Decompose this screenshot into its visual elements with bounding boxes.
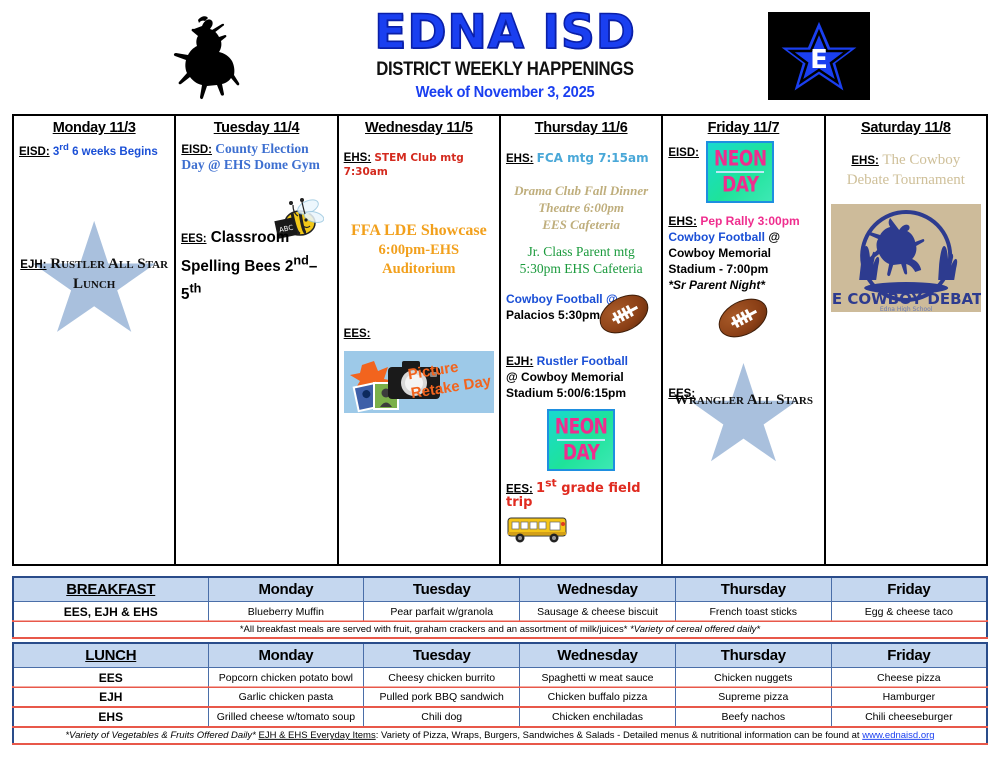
column-header-friday: Friday bbox=[831, 577, 987, 602]
event-label: EHS: bbox=[668, 214, 697, 228]
breakfast-title: BREAKFAST bbox=[13, 577, 208, 602]
cell-friday: Egg & cheese taco bbox=[831, 602, 987, 621]
page-header: EDNA ISD DISTRICT WEEKLY HAPPENINGS Week… bbox=[0, 0, 1000, 112]
saturday-debate-text-block: EHS: The Cowboy Debate Tournament bbox=[831, 151, 981, 190]
picture-retake-day-graphic: Picture Retake Day bbox=[344, 351, 494, 413]
event-label: EISD: bbox=[668, 147, 699, 159]
cell-tuesday: Pear parfait w/granola bbox=[364, 602, 520, 621]
svg-text:E: E bbox=[810, 45, 828, 75]
football-icon bbox=[598, 297, 650, 331]
thursday-ejh-football-block: EJH: Rustler Football @ Cowboy Memorial … bbox=[506, 353, 656, 401]
friday-star-block: EES: Wrangler All Stars bbox=[668, 363, 818, 473]
ejh-line-3: Stadium 5:00/6:15pm bbox=[506, 386, 626, 400]
thursday-cowboy-football-block: Cowboy Football @ Palacios 5:30pm bbox=[506, 291, 656, 323]
friday-fb-line-4: *Sr Parent Night* bbox=[668, 278, 765, 292]
event-label: EISD: bbox=[19, 146, 50, 158]
event-label: EHS: bbox=[851, 155, 878, 167]
friday-fb-line-3: Stadium - 7:00pm bbox=[668, 262, 768, 276]
day-column-friday: Friday 11/7 EISD: NEON DAY EHS: Pep Rall… bbox=[663, 116, 825, 564]
monday-star-block: EJH: Rustler All Star Lunch bbox=[19, 221, 169, 341]
ffa-line-2: 6:00pm-EHS Auditorium bbox=[344, 241, 494, 279]
event-text: Rustler All Star Lunch bbox=[50, 256, 168, 292]
ffa-line-1: FFA LDE Showcase bbox=[344, 221, 494, 241]
monday-star-text: EJH: Rustler All Star Lunch bbox=[19, 221, 169, 294]
school-bus-icon bbox=[506, 514, 570, 544]
friday-fb-line-2: Cowboy Memorial bbox=[668, 246, 771, 260]
cell-monday: Grilled cheese w/tomato soup bbox=[208, 707, 364, 726]
cell-tuesday: Chili dog bbox=[364, 707, 520, 726]
day-header-tuesday: Tuesday 11/4 bbox=[181, 120, 331, 136]
neon-line-2: DAY bbox=[722, 174, 758, 197]
day-header-thursday: Thursday 11/6 bbox=[506, 120, 656, 136]
note-plain: *All breakfast meals are served with fru… bbox=[240, 624, 630, 635]
row-label: EHS bbox=[13, 707, 208, 726]
day-column-monday: Monday 11/3 EISD: 3rd 6 weeks Begins EJH… bbox=[14, 116, 176, 564]
lunch-note-row: *Variety of Vegetables & Fruits Offered … bbox=[13, 727, 987, 744]
day-header-saturday: Saturday 11/8 bbox=[831, 120, 981, 136]
event-label: EES: bbox=[181, 233, 207, 245]
neon-line-2: DAY bbox=[563, 442, 599, 465]
note-italic: *Variety of Vegetables & Fruits Offered … bbox=[65, 730, 255, 741]
cell-wednesday: Chicken buffalo pizza bbox=[520, 687, 676, 706]
row-label: EES bbox=[13, 668, 208, 687]
breakfast-menu-table: BREAKFAST Monday Tuesday Wednesday Thurs… bbox=[12, 576, 988, 639]
cell-thursday: Beefy nachos bbox=[675, 707, 831, 726]
row-label: EES, EJH & EHS bbox=[13, 602, 208, 621]
note-underline: EJH & EHS Everyday Items bbox=[259, 730, 376, 741]
lunch-title: LUNCH bbox=[13, 643, 208, 668]
event-wednesday-ehs: EHS: STEM Club mtg 7:30am bbox=[344, 151, 494, 179]
event-tuesday-eisd: EISD: County Election Day @ EHS Dome Gym bbox=[181, 141, 331, 173]
cell-monday: Blueberry Muffin bbox=[208, 602, 364, 621]
day-header-monday: Monday 11/3 bbox=[19, 120, 169, 136]
week-label: Week of November 3, 2025 bbox=[298, 82, 712, 104]
jr-line-1: Jr. Class Parent mtg bbox=[506, 243, 656, 260]
breakfast-note: *All breakfast meals are served with fru… bbox=[13, 621, 987, 637]
neon-line-1: NEON bbox=[714, 148, 767, 171]
column-header-tuesday: Tuesday bbox=[364, 643, 520, 668]
cell-wednesday: Spaghetti w meat sauce bbox=[520, 668, 676, 687]
column-header-monday: Monday bbox=[208, 577, 364, 602]
cell-friday: Cheese pizza bbox=[831, 668, 987, 687]
day-column-tuesday: Tuesday 11/4 EISD: County Election Day @… bbox=[176, 116, 338, 564]
event-text-line2: Spelling Bees 2nd–5th bbox=[181, 258, 317, 302]
page-subtitle: DISTRICT WEEKLY HAPPENINGS bbox=[307, 58, 703, 82]
cell-tuesday: Cheesy chicken burrito bbox=[364, 668, 520, 687]
football-line-2: Palacios 5:30pm bbox=[506, 308, 600, 322]
jr-line-2: 5:30pm EHS Cafeteria bbox=[506, 260, 656, 277]
lunch-menu-table: LUNCH Monday Tuesday Wednesday Thursday … bbox=[12, 642, 988, 745]
note-italic: *Variety of cereal offered daily* bbox=[630, 624, 760, 635]
wednesday-ffa-block: FFA LDE Showcase 6:00pm-EHS Auditorium bbox=[344, 221, 494, 279]
cell-thursday: French toast sticks bbox=[675, 602, 831, 621]
event-label: EES: bbox=[506, 483, 533, 495]
cell-monday: Popcorn chicken potato bowl bbox=[208, 668, 364, 687]
row-label: EJH bbox=[13, 687, 208, 706]
event-label: EJH: bbox=[506, 354, 533, 368]
pep-rally-text: Pep Rally 3:00pm bbox=[700, 214, 799, 228]
cell-friday: Chili cheeseburger bbox=[831, 707, 987, 726]
cell-monday: Garlic chicken pasta bbox=[208, 687, 364, 706]
event-monday-eisd: EISD: 3rd 6 weeks Begins bbox=[19, 141, 169, 159]
title-block: EDNA ISD DISTRICT WEEKLY HAPPENINGS Week… bbox=[280, 8, 730, 104]
event-label: EJH: bbox=[20, 259, 46, 271]
day-column-saturday: Saturday 11/8 EHS: The Cowboy Debate Tou… bbox=[826, 116, 986, 564]
cell-thursday: Supreme pizza bbox=[675, 687, 831, 706]
friday-fb-line-1: Cowboy Football bbox=[668, 230, 765, 244]
friday-star-text: EES: Wrangler All Stars bbox=[668, 363, 818, 410]
neon-line-1: NEON bbox=[555, 416, 608, 439]
ednaisd-website-link[interactable]: www.ednaisd.org bbox=[862, 730, 934, 741]
ehs-star-logo-icon: E bbox=[768, 12, 870, 100]
column-header-wednesday: Wednesday bbox=[520, 643, 676, 668]
event-label: EISD: bbox=[181, 144, 212, 156]
event-label: EES: bbox=[344, 328, 371, 340]
table-row: EES, EJH & EHS Blueberry Muffin Pear par… bbox=[13, 602, 987, 622]
event-label: EHS: bbox=[344, 152, 371, 164]
page-title: EDNA ISD bbox=[280, 8, 730, 58]
event-text: 3rd 6 weeks Begins bbox=[53, 146, 158, 158]
column-header-wednesday: Wednesday bbox=[520, 577, 676, 602]
thursday-drama-club-block: Drama Club Fall Dinner Theatre 6:00pm EE… bbox=[506, 182, 656, 233]
friday-fb-at: @ bbox=[768, 230, 780, 244]
tuesday-spelling-bee-text: EES: Classroom Spelling Bees 2nd–5th bbox=[181, 227, 324, 305]
debate-logo-sub: Edna High School bbox=[880, 306, 933, 312]
cell-friday: Hamburger bbox=[831, 687, 987, 706]
event-label: EHS: bbox=[506, 153, 533, 165]
tuesday-spelling-bee-block: ABC EES: Classroom Spelling Bees 2nd–5th bbox=[181, 227, 331, 305]
football-icon bbox=[668, 301, 818, 335]
drama-line-3: EES Cafeteria bbox=[506, 216, 656, 233]
lunch-note: *Variety of Vegetables & Fruits Offered … bbox=[13, 727, 987, 743]
event-wednesday-ees-label: EES: bbox=[344, 327, 494, 341]
day-header-friday: Friday 11/7 bbox=[668, 120, 818, 136]
cell-wednesday: Chicken enchiladas bbox=[520, 707, 676, 726]
weekly-calendar-grid: Monday 11/3 EISD: 3rd 6 weeks Begins EJH… bbox=[12, 114, 988, 566]
column-header-thursday: Thursday bbox=[675, 577, 831, 602]
ejh-line-1: Rustler Football bbox=[537, 354, 628, 368]
event-text-line1: Classroom bbox=[211, 229, 290, 246]
neon-day-badge-thursday: NEON DAY bbox=[547, 409, 615, 471]
drama-line-1: Drama Club Fall Dinner bbox=[506, 182, 656, 199]
event-text: FCA mtg 7:15am bbox=[537, 151, 649, 165]
friday-events-block: EHS: Pep Rally 3:00pm Cowboy Football @ … bbox=[668, 213, 818, 293]
cell-wednesday: Sausage & cheese biscuit bbox=[520, 602, 676, 621]
day-header-wednesday: Wednesday 11/5 bbox=[344, 120, 494, 136]
cell-thursday: Chicken nuggets bbox=[675, 668, 831, 687]
table-header-row: LUNCH Monday Tuesday Wednesday Thursday … bbox=[13, 643, 987, 668]
event-thursday-ehs: EHS: FCA mtg 7:15am bbox=[506, 151, 656, 166]
table-header-row: BREAKFAST Monday Tuesday Wednesday Thurs… bbox=[13, 577, 987, 602]
friday-neon-row: EISD: NEON DAY bbox=[668, 141, 818, 203]
day-column-thursday: Thursday 11/6 EHS: FCA mtg 7:15am Drama … bbox=[501, 116, 663, 564]
column-header-friday: Friday bbox=[831, 643, 987, 668]
note-plain: : Variety of Pizza, Wraps, Burgers, Sand… bbox=[376, 730, 863, 741]
column-header-tuesday: Tuesday bbox=[364, 577, 520, 602]
table-row: EES Popcorn chicken potato bowl Cheesy c… bbox=[13, 668, 987, 688]
breakfast-note-row: *All breakfast meals are served with fru… bbox=[13, 621, 987, 638]
thursday-jr-class-block: Jr. Class Parent mtg 5:30pm EHS Cafeteri… bbox=[506, 243, 656, 277]
column-header-thursday: Thursday bbox=[675, 643, 831, 668]
neon-day-badge-friday: NEON DAY bbox=[706, 141, 774, 203]
cowboy-debates-logo-icon: THE COWBOY DEBATES Edna High School bbox=[831, 204, 981, 312]
column-header-monday: Monday bbox=[208, 643, 364, 668]
ejh-line-2: @ Cowboy Memorial bbox=[506, 370, 624, 384]
weekly-happenings-page: EDNA ISD DISTRICT WEEKLY HAPPENINGS Week… bbox=[0, 0, 1000, 773]
event-label: EES: bbox=[668, 385, 695, 404]
cell-tuesday: Pulled pork BBQ sandwich bbox=[364, 687, 520, 706]
day-column-wednesday: Wednesday 11/5 EHS: STEM Club mtg 7:30am… bbox=[339, 116, 501, 564]
drama-line-2: Theatre 6:00pm bbox=[506, 199, 656, 216]
thursday-ees-field-trip: EES: 1st grade field trip bbox=[506, 477, 656, 510]
table-row: EHS Grilled cheese w/tomato soup Chili d… bbox=[13, 707, 987, 727]
bucking-bronco-icon bbox=[168, 14, 250, 106]
table-row: EJH Garlic chicken pasta Pulled pork BBQ… bbox=[13, 687, 987, 707]
